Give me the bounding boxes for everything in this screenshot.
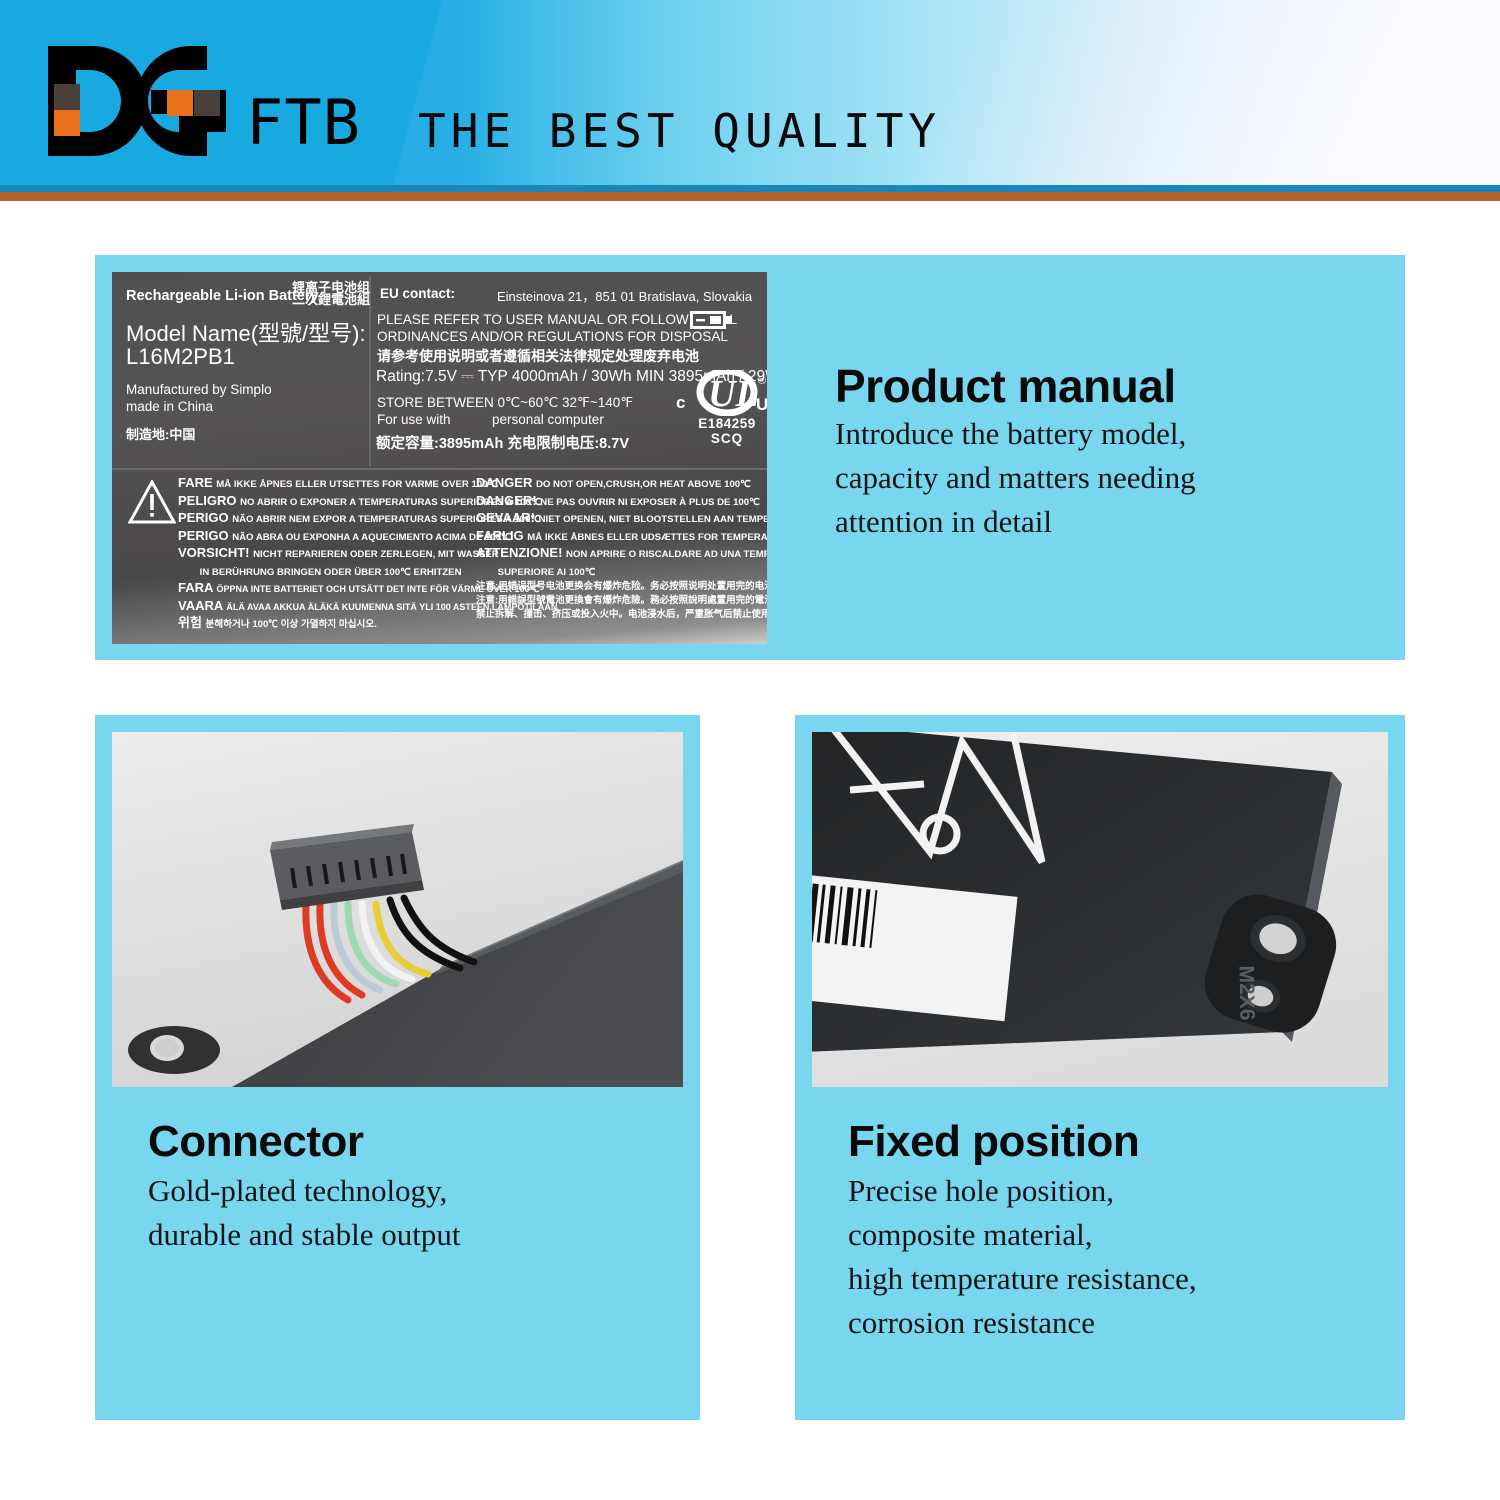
ul-scq-code: SCQ (672, 431, 767, 446)
warning-language-label: FARE (178, 475, 216, 490)
card-fixed-position: M2X6 Fixed position Precise hole positio… (795, 715, 1405, 1420)
fixed-position-photo-illustration: M2X6 (812, 732, 1388, 1087)
connector-body: Gold-plated technology, durable and stab… (148, 1169, 678, 1257)
fixed-position-body-line3: high temperature resistance, (848, 1257, 1378, 1301)
warning-language-label (178, 563, 200, 578)
warning-language-label: FARA (178, 580, 217, 595)
connector-caption: Connector Gold-plated technology, durabl… (148, 1115, 678, 1257)
ul-file-number: E184259 (672, 416, 767, 431)
fixed-position-caption: Fixed position Precise hole position, co… (848, 1115, 1378, 1345)
connector-body-line2: durable and stable output (148, 1213, 678, 1257)
connector-body-line1: Gold-plated technology, (148, 1169, 678, 1213)
header-rule-teal (0, 185, 1500, 192)
label-manufacturer: Manufactured by Simplo made in China (126, 381, 272, 415)
warning-language-label: PERIGO (178, 528, 232, 543)
warning-text-cn: 注意:用錯誤型號電池更換會有爆炸危險。務必按照說明處置用完的電池 (476, 594, 767, 608)
warning-row: FARLIG MÅ IKKE ÅBNES ELLER UDSÆTTES FOR … (476, 528, 767, 546)
warning-row: DANGER DO NOT OPEN,CRUSH,OR HEAT ABOVE 1… (476, 475, 767, 493)
warning-text: MÅ IKKE ÅBNES ELLER UDSÆTTES FOR TEMPERA… (527, 532, 767, 543)
warning-text: NON APRIRE O RISCALDARE AD UNA TEMPERATU… (566, 549, 767, 560)
warning-text: MÅ IKKE ÅPNES ELLER UTSETTES FOR VARME O… (216, 479, 498, 490)
warning-language-label: GEVAAR! (476, 510, 539, 525)
ul-us-letters: US (756, 395, 767, 414)
label-disposal-line1: PLEASE REFER TO USER MANUAL OR FOLLOW LO… (377, 312, 737, 329)
label-disposal-line2: ORDINANCES AND/OR REGULATIONS FOR DISPOS… (377, 329, 737, 346)
warnings-right-column: DANGER DO NOT OPEN,CRUSH,OR HEAT ABOVE 1… (476, 475, 767, 622)
svg-text:UL: UL (708, 373, 759, 415)
warning-text: NICHT REPARIEREN ODER ZERLEGEN, MIT WASS… (253, 549, 499, 560)
warning-language-label (476, 563, 498, 578)
ul-certification-mark: c UL ® US E184259 SCQ (672, 370, 767, 448)
warning-language-label: PERIGO (178, 510, 232, 525)
warning-language-label: VAARA (178, 598, 226, 613)
label-model-value: L16M2PB1 (126, 344, 235, 370)
fixed-position-heading: Fixed position (848, 1115, 1378, 1169)
label-store-between: STORE BETWEEN 0℃~60℃ 32℉~140℉ (377, 395, 633, 411)
warning-row: DANGER! NE PAS OUVRIR NI EXPOSER À PLUS … (476, 493, 767, 511)
warning-text-cn: 注意:用错误型号电池更换会有爆炸危险。务必按照说明处置用完的电池 (476, 580, 767, 594)
connector-photo (112, 732, 683, 1087)
label-title: Rechargeable Li-ion Battery (126, 288, 319, 304)
warning-text: IN BERÜHRUNG BRINGEN ODER ÜBER 100℃ ERHI… (200, 567, 462, 578)
warning-language-label: FARLIG (476, 528, 527, 543)
warning-triangle-icon (128, 480, 176, 524)
connector-photo-illustration (112, 732, 683, 1087)
connector-heading: Connector (148, 1115, 678, 1169)
warning-text: NÃO ABRA OU EXPONHA A AQUECIMENTO ACIMA … (232, 532, 512, 543)
product-manual-caption: Product manual Introduce the battery mod… (835, 360, 1375, 544)
warning-row: GEVAAR! NIET OPENEN, NIET BLOOTSTELLEN A… (476, 510, 767, 528)
warning-text: DO NOT OPEN,CRUSH,OR HEAT ABOVE 100℃ (536, 479, 751, 490)
fixed-position-body-line1: Precise hole position, (848, 1169, 1378, 1213)
ul-logo-icon: c UL ® US (672, 370, 767, 416)
warning-row: SUPERIORE AI 100℃ (476, 563, 767, 581)
card-product-manual: Rechargeable Li-ion Battery 锂离子电池组 二次鋰電池… (95, 255, 1405, 660)
label-title-cn: 锂离子电池组 二次鋰電池組 (292, 282, 370, 306)
warning-language-label: DANGER (476, 475, 536, 490)
product-manual-body-line1: Introduce the battery model, (835, 412, 1375, 456)
warning-text: NIET OPENEN, NIET BLOOTSTELLEN AAN TEMPE… (539, 514, 767, 525)
label-horizontal-divider (112, 468, 767, 470)
warning-language-label: ATTENZIONE! (476, 545, 566, 560)
page-header: FTB THE BEST QUALITY (0, 0, 1500, 185)
label-made-in-cn: 制造地:中国 (126, 424, 195, 443)
svg-text:®: ® (758, 375, 766, 387)
label-for-use-with-value: personal computer (492, 412, 604, 427)
header-tagline: THE BEST QUALITY (418, 104, 941, 158)
product-manual-body-line3: attention in detail (835, 500, 1375, 544)
warning-text: NE PAS OUVRIR NI EXPOSER À PLUS DE 100℃ (540, 497, 760, 508)
label-for-use-with: For use with (377, 412, 451, 427)
card-connector: Connector Gold-plated technology, durabl… (95, 715, 700, 1420)
fixed-position-body: Precise hole position, composite materia… (848, 1169, 1378, 1345)
warning-text: 분해하거나 100℃ 이상 가열하지 마십시오. (206, 619, 377, 630)
warning-language-label: VORSICHT! (178, 545, 253, 560)
product-manual-body-line2: capacity and matters needing (835, 456, 1375, 500)
label-eu-contact-label: EU contact: (380, 286, 455, 301)
product-manual-heading: Product manual (835, 360, 1375, 412)
label-manufactured-by: Manufactured by Simplo (126, 381, 272, 398)
brand-ftb-text: FTB (246, 92, 361, 154)
label-disposal-text: PLEASE REFER TO USER MANUAL OR FOLLOW LO… (377, 312, 737, 345)
warning-language-label: DANGER! (476, 493, 540, 508)
fixed-position-body-line2: composite material, (848, 1213, 1378, 1257)
label-capacity-cn: 额定容量:3895mAh 充电限制电压:8.7V (376, 432, 629, 453)
warning-language-label: 위험 (178, 615, 206, 630)
header-rule-orange (0, 192, 1500, 201)
warning-language-label: PELIGRO (178, 493, 240, 508)
ul-c-letter: c (676, 393, 685, 412)
fixed-position-photo: M2X6 (812, 732, 1388, 1087)
fixed-position-body-line4: corrosion resistance (848, 1301, 1378, 1345)
label-made-in: made in China (126, 398, 272, 415)
label-eu-contact-address: Einsteinova 21，851 01 Bratislava, Slovak… (497, 286, 752, 305)
warning-text-cn: 禁止拆解、撞击、挤压或投入火中。电池浸水后，严重胀气后禁止使用。请勿置于高温环境… (476, 608, 767, 622)
battery-icon (690, 308, 734, 332)
label-disposal-cn: 请参考使用说明或者遵循相关法律规定处理废弃电池 (377, 346, 699, 366)
screw-size-marking: M2X6 (1235, 965, 1259, 1020)
product-manual-body: Introduce the battery model, capacity an… (835, 412, 1375, 544)
label-title-cn-line2: 二次鋰電池組 (292, 294, 370, 306)
warning-text: SUPERIORE AI 100℃ (498, 567, 596, 578)
warning-row: ATTENZIONE! NON APRIRE O RISCALDARE AD U… (476, 545, 767, 563)
battery-label-photo: Rechargeable Li-ion Battery 锂离子电池组 二次鋰電池… (112, 272, 767, 644)
